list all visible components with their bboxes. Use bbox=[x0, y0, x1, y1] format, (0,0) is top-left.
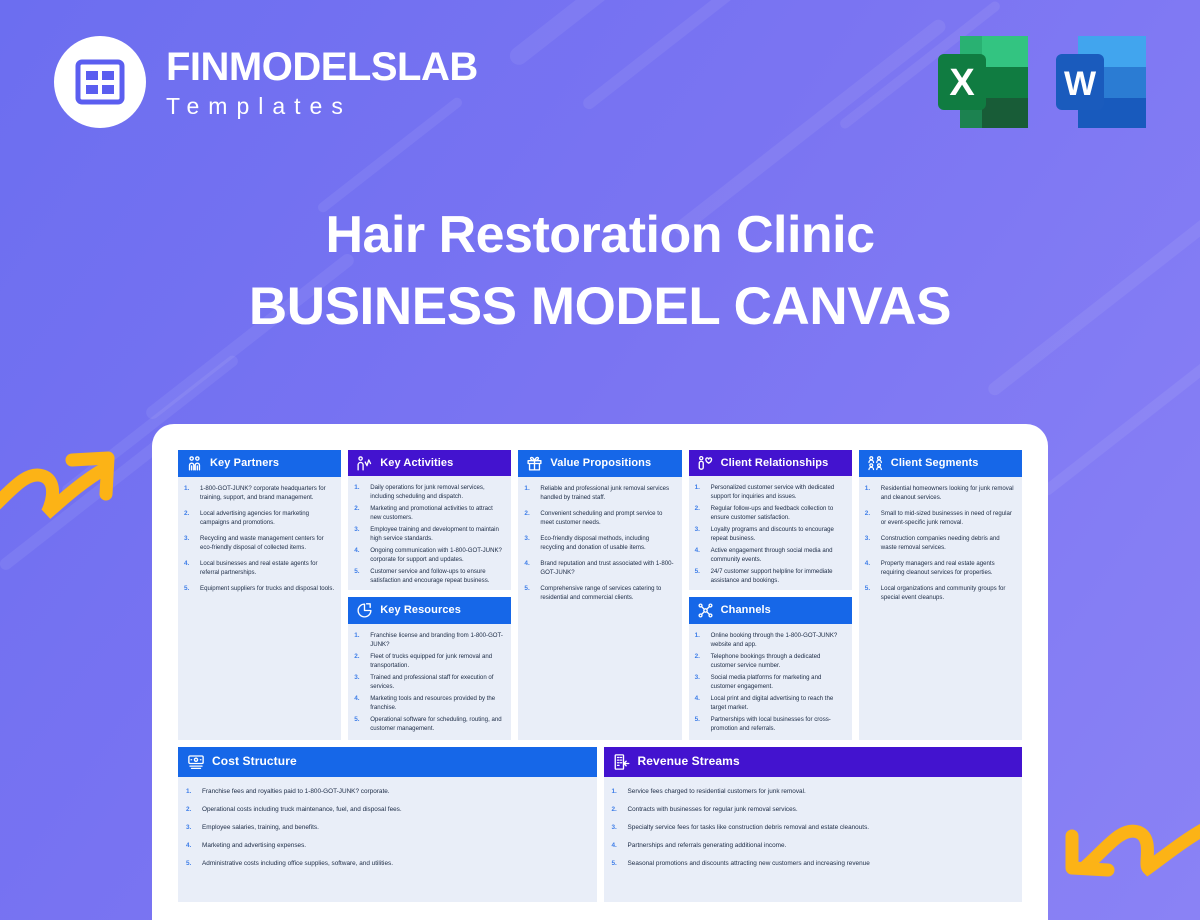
brand-title: FINMODELSLAB bbox=[166, 47, 478, 87]
item-number: 3. bbox=[695, 525, 706, 544]
item-text: Local organizations and community groups… bbox=[881, 584, 1015, 603]
list-item: 2.Contracts with businesses for regular … bbox=[612, 805, 1013, 815]
list-item: 4.Marketing tools and resources provided… bbox=[354, 694, 504, 713]
card-header: Value Propositions bbox=[518, 450, 681, 477]
item-number: 5. bbox=[184, 584, 195, 594]
item-text: Seasonal promotions and discounts attrac… bbox=[628, 859, 870, 869]
column-client-segments: Client Segments 1.Residential homeowners… bbox=[859, 450, 1022, 740]
item-text: Local print and digital advertising to r… bbox=[711, 694, 845, 713]
item-number: 2. bbox=[354, 504, 365, 523]
list-item: 2.Regular follow-ups and feedback collec… bbox=[695, 504, 845, 523]
item-text: Personalized customer service with dedic… bbox=[711, 483, 845, 502]
item-number: 2. bbox=[354, 652, 365, 671]
item-number: 3. bbox=[354, 525, 365, 544]
card-revenue-streams[interactable]: Revenue Streams 1.Service fees charged t… bbox=[604, 747, 1023, 902]
item-number: 2. bbox=[695, 652, 706, 671]
card-body: 1.Service fees charged to residential cu… bbox=[604, 777, 1023, 902]
list-item: 1.Franchise fees and royalties paid to 1… bbox=[186, 787, 587, 797]
card-title: Key Partners bbox=[210, 457, 279, 469]
list-item: 1.Online booking through the 1-800-GOT-J… bbox=[695, 631, 845, 650]
bg-brush-stroke bbox=[1040, 353, 1200, 497]
page-subtitle: BUSINESS MODEL CANVAS bbox=[0, 278, 1200, 336]
list-item: 1.Personalized customer service with ded… bbox=[695, 483, 845, 502]
list-item: 2.Fleet of trucks equipped for junk remo… bbox=[354, 652, 504, 671]
card-client-segments[interactable]: Client Segments 1.Residential homeowners… bbox=[859, 450, 1022, 740]
card-title: Cost Structure bbox=[212, 755, 297, 768]
card-header: Client Segments bbox=[859, 450, 1022, 477]
list-item: 2.Local advertising agencies for marketi… bbox=[184, 509, 334, 528]
list-item: 5.Operational software for scheduling, r… bbox=[354, 715, 504, 734]
card-title: Value Propositions bbox=[550, 457, 651, 469]
list-item: 3.Loyalty programs and discounts to enco… bbox=[695, 525, 845, 544]
card-item-list: 1.Residential homeowners looking for jun… bbox=[865, 484, 1015, 602]
card-item-list: 1.Personalized customer service with ded… bbox=[695, 483, 845, 585]
item-text: Marketing and promotional activities to … bbox=[370, 504, 504, 523]
list-item: 2.Marketing and promotional activities t… bbox=[354, 504, 504, 523]
canvas-bottom-grid: Cost Structure 1.Franchise fees and roya… bbox=[178, 747, 1022, 902]
card-body: 1.Personalized customer service with ded… bbox=[689, 476, 852, 590]
card-title: Key Activities bbox=[380, 457, 453, 469]
card-value-propositions[interactable]: Value Propositions 1.Reliable and profes… bbox=[518, 450, 681, 740]
item-text: Active engagement through social media a… bbox=[711, 546, 845, 565]
card-key-activities[interactable]: Key Activities 1.Daily operations for ju… bbox=[348, 450, 511, 590]
svg-text:W: W bbox=[1064, 65, 1097, 103]
bg-brush-stroke bbox=[506, 0, 753, 68]
poster-page: FINMODELSLAB Templates X W bbox=[0, 0, 1200, 920]
card-body: 1.Reliable and professional junk removal… bbox=[518, 477, 681, 740]
decorative-arrow-right bbox=[1058, 806, 1200, 920]
item-text: Small to mid-sized businesses in need of… bbox=[881, 509, 1015, 528]
item-number: 2. bbox=[184, 509, 195, 528]
item-number: 4. bbox=[354, 546, 365, 565]
list-item: 1.Residential homeowners looking for jun… bbox=[865, 484, 1015, 503]
list-item: 4.Property managers and real estate agen… bbox=[865, 559, 1015, 578]
canvas-top-grid: Key Partners 1.1-800-GOT-JUNK? corporate… bbox=[178, 450, 1022, 740]
list-item: 3.Social media platforms for marketing a… bbox=[695, 673, 845, 692]
card-title: Client Relationships bbox=[721, 457, 829, 469]
list-item: 3.Specialty service fees for tasks like … bbox=[612, 823, 1013, 833]
item-text: Specialty service fees for tasks like co… bbox=[628, 823, 870, 833]
item-number: 4. bbox=[354, 694, 365, 713]
card-body: 1.1-800-GOT-JUNK? corporate headquarters… bbox=[178, 477, 341, 740]
item-text: Eco-friendly disposal methods, including… bbox=[540, 534, 674, 553]
list-item: 4.Ongoing communication with 1-800-GOT-J… bbox=[354, 546, 504, 565]
item-number: 3. bbox=[695, 673, 706, 692]
item-number: 1. bbox=[695, 483, 706, 502]
card-header: Client Relationships bbox=[689, 450, 852, 476]
card-header: Key Activities bbox=[348, 450, 511, 476]
item-text: Contracts with businesses for regular ju… bbox=[628, 805, 798, 815]
item-text: Loyalty programs and discounts to encour… bbox=[711, 525, 845, 544]
list-item: 5.Customer service and follow-ups to ens… bbox=[354, 567, 504, 586]
item-number: 4. bbox=[695, 546, 706, 565]
item-text: Online booking through the 1-800-GOT-JUN… bbox=[711, 631, 845, 650]
item-text: Social media platforms for marketing and… bbox=[711, 673, 845, 692]
item-text: Ongoing communication with 1-800-GOT-JUN… bbox=[370, 546, 504, 565]
item-number: 3. bbox=[354, 673, 365, 692]
item-text: Equipment suppliers for trucks and dispo… bbox=[200, 584, 334, 594]
item-number: 3. bbox=[865, 534, 876, 553]
item-number: 4. bbox=[865, 559, 876, 578]
item-text: Customer service and follow-ups to ensur… bbox=[370, 567, 504, 586]
card-header: Key Resources bbox=[348, 597, 511, 624]
card-item-list: 1.Online booking through the 1-800-GOT-J… bbox=[695, 631, 845, 733]
item-text: Telephone bookings through a dedicated c… bbox=[711, 652, 845, 671]
item-text: Marketing tools and resources provided b… bbox=[370, 694, 504, 713]
item-number: 4. bbox=[186, 841, 197, 851]
decorative-arrow-left bbox=[0, 432, 138, 547]
gift-icon bbox=[526, 455, 543, 472]
card-item-list: 1.Franchise license and branding from 1-… bbox=[354, 631, 504, 733]
card-header: Cost Structure bbox=[178, 747, 597, 777]
item-text: Employee salaries, training, and benefit… bbox=[202, 823, 319, 833]
item-number: 2. bbox=[695, 504, 706, 523]
card-key-resources[interactable]: Key Resources 1.Franchise license and br… bbox=[348, 597, 511, 740]
card-item-list: 1.Service fees charged to residential cu… bbox=[612, 787, 1013, 869]
item-number: 3. bbox=[184, 534, 195, 553]
item-text: Daily operations for junk removal servic… bbox=[370, 483, 504, 502]
card-body: 1.Daily operations for junk removal serv… bbox=[348, 476, 511, 590]
list-item: 2.Telephone bookings through a dedicated… bbox=[695, 652, 845, 671]
card-header: Channels bbox=[689, 597, 852, 624]
item-text: Property managers and real estate agents… bbox=[881, 559, 1015, 578]
list-item: 2.Operational costs including truck main… bbox=[186, 805, 587, 815]
poster-titles: Hair Restoration Clinic BUSINESS MODEL C… bbox=[0, 205, 1200, 337]
list-item: 4.Partnerships and referrals generating … bbox=[612, 841, 1013, 851]
item-number: 4. bbox=[695, 694, 706, 713]
item-number: 3. bbox=[612, 823, 623, 833]
logo-mark bbox=[54, 36, 146, 128]
item-number: 2. bbox=[865, 509, 876, 528]
item-number: 5. bbox=[524, 584, 535, 603]
item-number: 5. bbox=[695, 715, 706, 734]
item-text: Local businesses and real estate agents … bbox=[200, 559, 334, 578]
card-header: Revenue Streams bbox=[604, 747, 1023, 777]
word-icon: W bbox=[1052, 28, 1152, 134]
list-item: 3.Trained and professional staff for exe… bbox=[354, 673, 504, 692]
item-text: Regular follow-ups and feedback collecti… bbox=[711, 504, 845, 523]
list-item: 5.Seasonal promotions and discounts attr… bbox=[612, 859, 1013, 869]
item-text: Franchise fees and royalties paid to 1-8… bbox=[202, 787, 390, 797]
card-body: 1.Franchise fees and royalties paid to 1… bbox=[178, 777, 597, 902]
item-text: Employee training and development to mai… bbox=[370, 525, 504, 544]
people-group-icon bbox=[867, 455, 884, 472]
item-number: 5. bbox=[354, 715, 365, 734]
person-activity-icon bbox=[356, 455, 373, 472]
list-item: 2.Small to mid-sized businesses in need … bbox=[865, 509, 1015, 528]
item-text: Operational software for scheduling, rou… bbox=[370, 715, 504, 734]
item-number: 1. bbox=[612, 787, 623, 797]
item-text: Comprehensive range of services catering… bbox=[540, 584, 674, 603]
item-number: 1. bbox=[524, 484, 535, 503]
list-item: 3.Eco-friendly disposal methods, includi… bbox=[524, 534, 674, 553]
card-item-list: 1.Franchise fees and royalties paid to 1… bbox=[186, 787, 587, 869]
item-number: 4. bbox=[612, 841, 623, 851]
list-item: 3.Employee salaries, training, and benef… bbox=[186, 823, 587, 833]
item-text: Partnerships and referrals generating ad… bbox=[628, 841, 787, 851]
list-item: 4.Active engagement through social media… bbox=[695, 546, 845, 565]
item-text: 24/7 customer support helpline for immed… bbox=[711, 567, 845, 586]
card-key-partners[interactable]: Key Partners 1.1-800-GOT-JUNK? corporate… bbox=[178, 450, 341, 740]
item-text: Reliable and professional junk removal s… bbox=[540, 484, 674, 503]
item-number: 5. bbox=[186, 859, 197, 869]
card-item-list: 1.Reliable and professional junk removal… bbox=[524, 484, 674, 602]
item-number: 5. bbox=[612, 859, 623, 869]
item-text: Trained and professional staff for execu… bbox=[370, 673, 504, 692]
card-item-list: 1.1-800-GOT-JUNK? corporate headquarters… bbox=[184, 484, 334, 593]
person-heart-icon bbox=[697, 455, 714, 472]
list-item: 1.Daily operations for junk removal serv… bbox=[354, 483, 504, 502]
column-key-partners: Key Partners 1.1-800-GOT-JUNK? corporate… bbox=[178, 450, 341, 740]
item-text: Construction companies needing debris an… bbox=[881, 534, 1015, 553]
item-number: 1. bbox=[354, 631, 365, 650]
item-text: Local advertising agencies for marketing… bbox=[200, 509, 334, 528]
brand-subtitle: Templates bbox=[166, 95, 478, 118]
item-number: 5. bbox=[354, 567, 365, 586]
svg-text:X: X bbox=[949, 62, 975, 104]
item-text: 1-800-GOT-JUNK? corporate headquarters f… bbox=[200, 484, 334, 503]
list-item: 4.Brand reputation and trust associated … bbox=[524, 559, 674, 578]
list-item: 3.Employee training and development to m… bbox=[354, 525, 504, 544]
item-text: Convenient scheduling and prompt service… bbox=[540, 509, 674, 528]
item-number: 1. bbox=[695, 631, 706, 650]
list-item: 1.Service fees charged to residential cu… bbox=[612, 787, 1013, 797]
list-item: 2.Convenient scheduling and prompt servi… bbox=[524, 509, 674, 528]
item-text: Franchise license and branding from 1-80… bbox=[370, 631, 504, 650]
list-item: 4.Local businesses and real estate agent… bbox=[184, 559, 334, 578]
list-item: 1.Franchise license and branding from 1-… bbox=[354, 631, 504, 650]
item-text: Service fees charged to residential cust… bbox=[628, 787, 806, 797]
item-number: 1. bbox=[184, 484, 195, 503]
list-item: 5.Equipment suppliers for trucks and dis… bbox=[184, 584, 334, 594]
two-people-icon bbox=[186, 455, 203, 472]
list-item: 3.Construction companies needing debris … bbox=[865, 534, 1015, 553]
column-value-propositions: Value Propositions 1.Reliable and profes… bbox=[518, 450, 681, 740]
file-format-icons: X W bbox=[934, 28, 1152, 134]
list-item: 4.Local print and digital advertising to… bbox=[695, 694, 845, 713]
card-body: 1.Online booking through the 1-800-GOT-J… bbox=[689, 624, 852, 740]
item-number: 2. bbox=[524, 509, 535, 528]
item-number: 2. bbox=[186, 805, 197, 815]
item-number: 4. bbox=[524, 559, 535, 578]
item-text: Marketing and advertising expenses. bbox=[202, 841, 306, 851]
item-number: 3. bbox=[524, 534, 535, 553]
card-body: 1.Residential homeowners looking for jun… bbox=[859, 477, 1022, 740]
item-number: 1. bbox=[865, 484, 876, 503]
list-item: 3.Recycling and waste management centers… bbox=[184, 534, 334, 553]
list-item: 5.24/7 customer support helpline for imm… bbox=[695, 567, 845, 586]
card-channels[interactable]: Channels 1.Online booking through the 1-… bbox=[689, 597, 852, 740]
item-number: 5. bbox=[865, 584, 876, 603]
item-text: Administrative costs including office su… bbox=[202, 859, 393, 869]
card-item-list: 1.Daily operations for junk removal serv… bbox=[354, 483, 504, 585]
card-cost-structure[interactable]: Cost Structure 1.Franchise fees and roya… bbox=[178, 747, 597, 902]
banknote-icon bbox=[187, 753, 205, 771]
card-title: Revenue Streams bbox=[638, 755, 740, 768]
item-number: 2. bbox=[612, 805, 623, 815]
list-item: 5.Partnerships with local businesses for… bbox=[695, 715, 845, 734]
network-nodes-icon bbox=[697, 602, 714, 619]
item-text: Brand reputation and trust associated wi… bbox=[540, 559, 674, 578]
brand-logo: FINMODELSLAB Templates bbox=[54, 36, 478, 128]
item-number: 1. bbox=[354, 483, 365, 502]
column-key-activities-resources: Key Activities 1.Daily operations for ju… bbox=[348, 450, 511, 740]
list-item: 5.Local organizations and community grou… bbox=[865, 584, 1015, 603]
item-text: Residential homeowners looking for junk … bbox=[881, 484, 1015, 503]
list-item: 4.Marketing and advertising expenses. bbox=[186, 841, 587, 851]
card-title: Client Segments bbox=[891, 457, 979, 469]
item-text: Recycling and waste management centers f… bbox=[200, 534, 334, 553]
card-header: Key Partners bbox=[178, 450, 341, 477]
card-title: Channels bbox=[721, 604, 771, 616]
building-arrow-icon bbox=[613, 753, 631, 771]
bg-brush-stroke bbox=[581, 0, 770, 112]
item-text: Partnerships with local businesses for c… bbox=[711, 715, 845, 734]
list-item: 1.1-800-GOT-JUNK? corporate headquarters… bbox=[184, 484, 334, 503]
item-text: Operational costs including truck mainte… bbox=[202, 805, 402, 815]
list-item: 5.Comprehensive range of services cateri… bbox=[524, 584, 674, 603]
list-item: 1.Reliable and professional junk removal… bbox=[524, 484, 674, 503]
item-number: 1. bbox=[186, 787, 197, 797]
card-body: 1.Franchise license and branding from 1-… bbox=[348, 624, 511, 740]
item-number: 4. bbox=[184, 559, 195, 578]
page-title: Hair Restoration Clinic bbox=[0, 205, 1200, 266]
card-title: Key Resources bbox=[380, 604, 461, 616]
card-client-relationships[interactable]: Client Relationships 1.Personalized cust… bbox=[689, 450, 852, 590]
column-client-relationships-channels: Client Relationships 1.Personalized cust… bbox=[689, 450, 852, 740]
pie-chart-icon bbox=[356, 602, 373, 619]
business-model-canvas: Key Partners 1.1-800-GOT-JUNK? corporate… bbox=[152, 424, 1048, 920]
item-text: Fleet of trucks equipped for junk remova… bbox=[370, 652, 504, 671]
grid-squares-icon bbox=[75, 57, 125, 107]
item-number: 5. bbox=[695, 567, 706, 586]
list-item: 5.Administrative costs including office … bbox=[186, 859, 587, 869]
excel-icon: X bbox=[934, 28, 1034, 134]
item-number: 3. bbox=[186, 823, 197, 833]
